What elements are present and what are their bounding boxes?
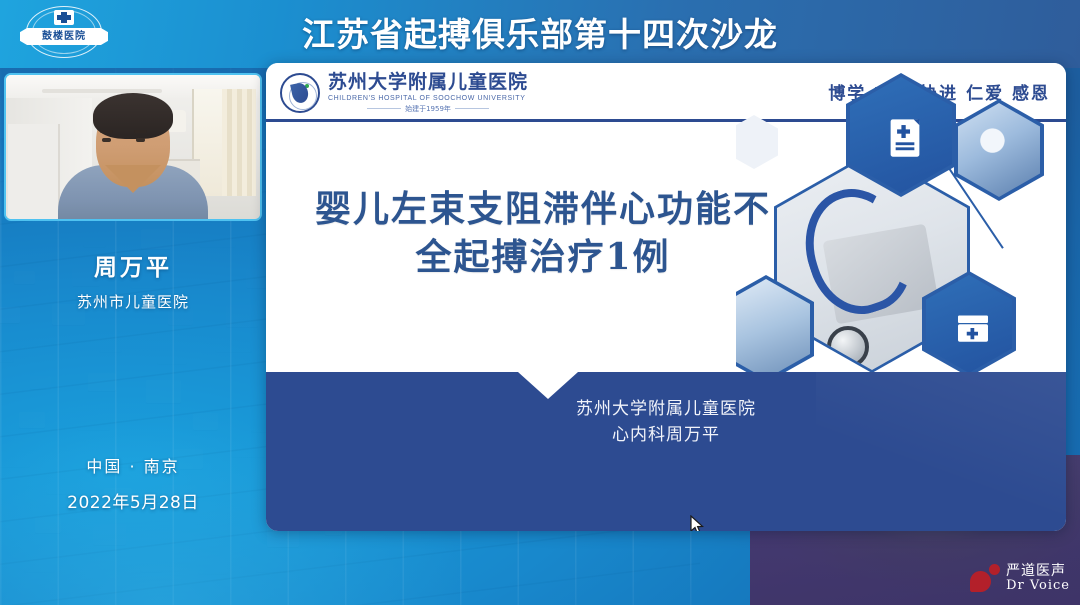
slide-logo-cn: 苏州大学附属儿童医院 [328,73,528,93]
slide-upper-area: 苏州大学附属儿童医院 CHILDREN'S HOSPITAL OF SOOCHO… [266,63,1066,373]
event-title: 江苏省起搏俱乐部第十四次沙龙 [302,8,778,56]
slide-footer-notch [518,372,578,399]
hex-doctor-photo-top-right [954,99,1044,201]
speaker-video-feed[interactable] [4,73,262,221]
event-header-bar: 鼓楼医院 江苏省起搏俱乐部第十四次沙龙 [0,0,1080,68]
venue-info: 中国 · 南京 2022年5月28日 [0,453,266,513]
speaker-name: 周万平 [0,248,266,282]
slide-footer-line-2: 心内科周万平 [266,422,1066,448]
speaker-info: 周万平 苏州市儿童医院 [0,248,266,312]
hospital-swoosh-logo-icon: 苏州大学附属儿童医院 CHILDREN'S HOSPITAL OF SOOCHO… [280,73,528,114]
slide-footer-band: 苏州大学附属儿童医院 心内科周万平 [266,372,1066,531]
hospital-cross-emblem-icon: 鼓楼医院 [18,4,110,62]
slide-hex-graphic-cluster [736,63,1066,373]
drvoice-speech-bubble-icon [970,564,1000,592]
folder-plus-icon [953,308,993,348]
slide-main-title: 婴儿左束支阻滞伴心功能不全起搏治疗1例 [308,185,778,281]
watermark-cn: 严道医声 [1006,564,1070,579]
watermark-en: Dr Voice [1006,579,1070,593]
document-plus-icon [882,115,928,161]
slide-logo-en: CHILDREN'S HOSPITAL OF SOOCHOW UNIVERSIT… [328,95,528,102]
venue-city: 中国 · 南京 [0,453,266,477]
slide-logo-since: 始建于1959年 [405,104,451,114]
presentation-slide[interactable]: 苏州大学附属儿童医院 CHILDREN'S HOSPITAL OF SOOCHO… [266,63,1066,531]
slide-footer-line-1: 苏州大学附属儿童医院 [266,396,1066,422]
speaker-organization: 苏州市儿童医院 [0,291,266,312]
drvoice-watermark: 严道医声 Dr Voice [970,564,1070,593]
emblem-label: 鼓楼医院 [20,28,108,45]
broadcast-screen: 鼓楼医院 江苏省起搏俱乐部第十四次沙龙 周万平 苏州市儿童医院 中国 · 南京 … [0,0,1080,605]
mouse-pointer-icon [690,515,704,531]
hex-ghost-shape [736,115,778,169]
venue-date: 2022年5月28日 [0,488,266,513]
